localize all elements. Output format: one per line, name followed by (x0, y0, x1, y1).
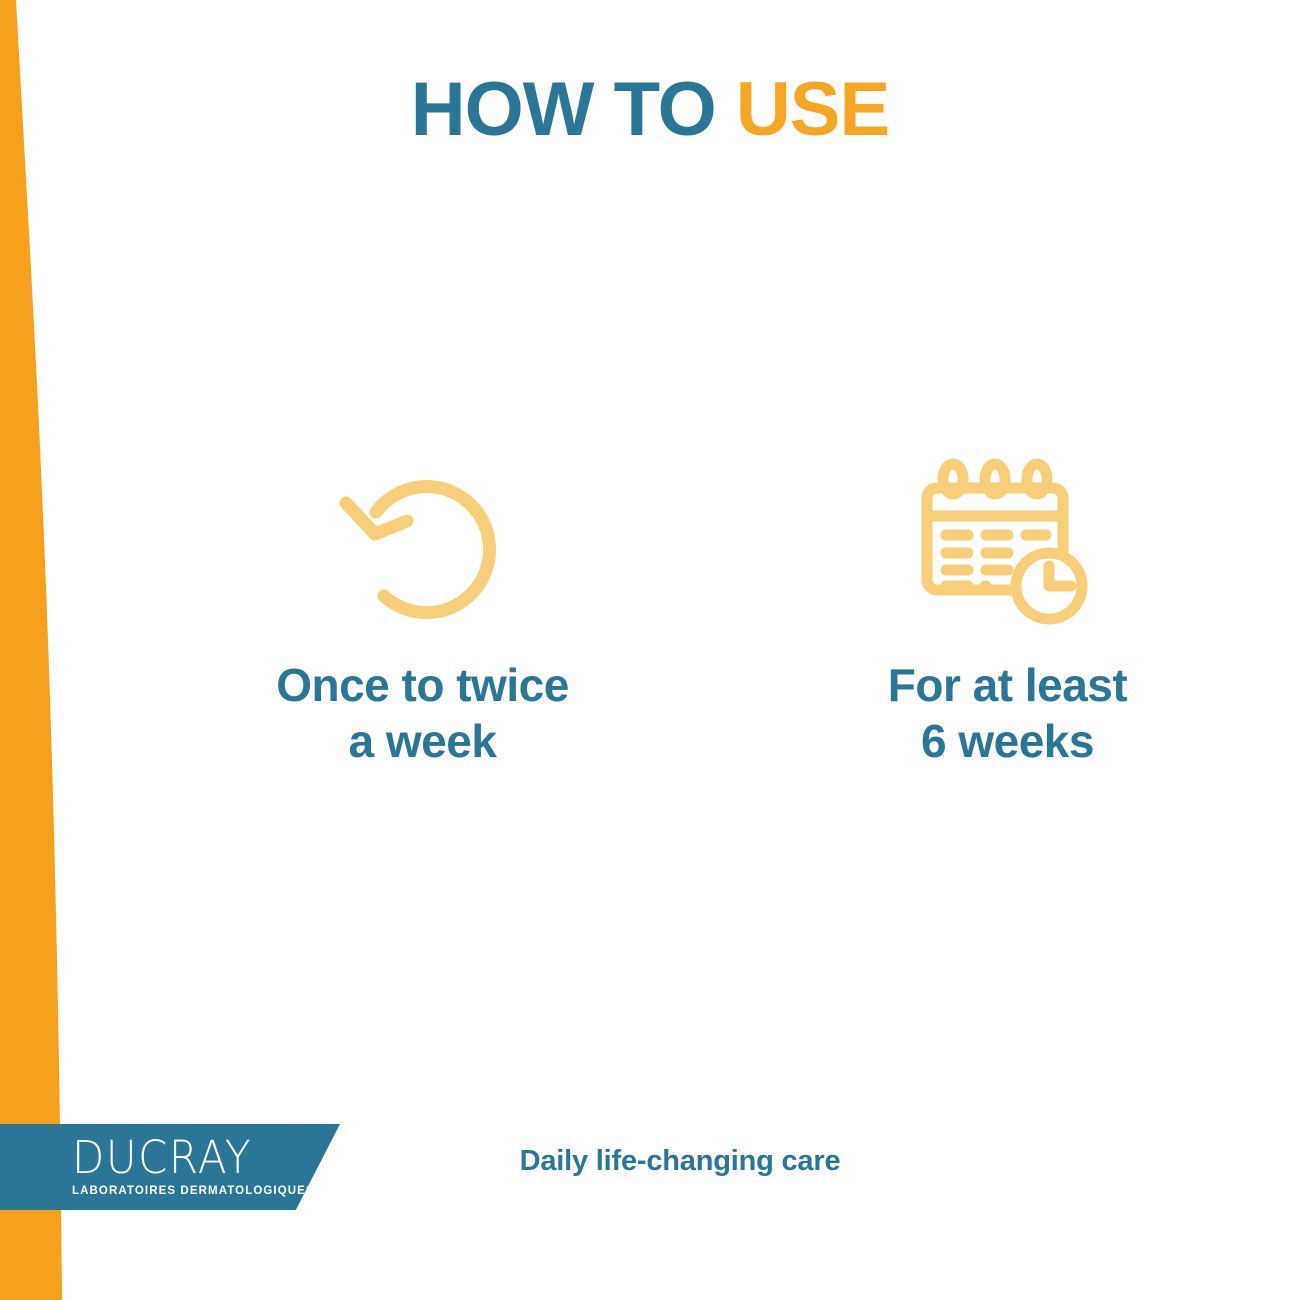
feature-frequency-label: Once to twice a week (276, 657, 569, 769)
brand-name: DUCRAY (72, 1135, 252, 1180)
orange-curved-band (0, 0, 120, 1300)
circular-arrow-repeat-icon (328, 455, 518, 635)
feature-frequency: Once to twice a week (198, 455, 648, 769)
calendar-clock-icon (913, 455, 1103, 635)
page-title-accent: USE (736, 67, 889, 152)
ducray-logo-banner: DUCRAY LABORATOIRES DERMATOLOGIQUES (0, 1124, 340, 1210)
promo-card: HOW TO USE Once to twice a week (0, 0, 1300, 1300)
page-title-primary: HOW TO (411, 67, 736, 152)
feature-list: Once to twice a week (130, 455, 1300, 769)
feature-duration-label: For at least 6 weeks (888, 657, 1127, 769)
brand-tagline: Daily life-changing care (420, 1145, 940, 1178)
brand-subtitle: LABORATOIRES DERMATOLOGIQUES (72, 1186, 315, 1198)
page-title: HOW TO USE (0, 72, 1300, 148)
feature-duration: For at least 6 weeks (783, 455, 1233, 769)
